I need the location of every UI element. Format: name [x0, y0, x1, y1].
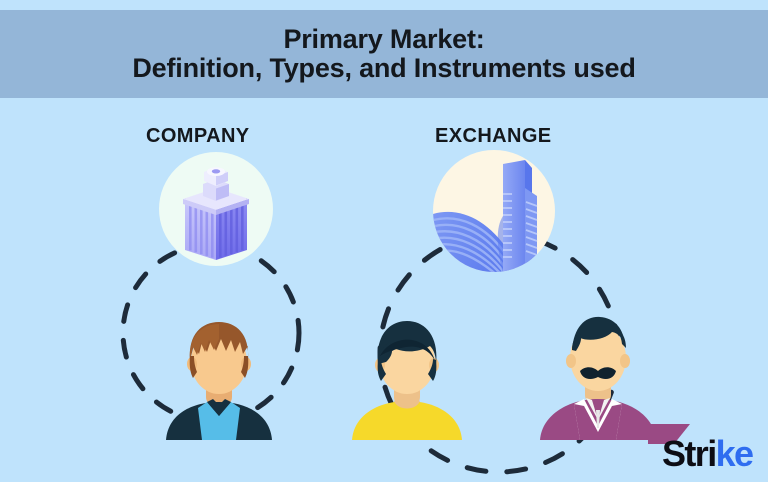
brand-name-part-2: k	[716, 433, 734, 474]
page-title-line-2: Definition, Types, and Instruments used	[132, 54, 635, 83]
title-banner: Primary Market: Definition, Types, and I…	[0, 10, 768, 98]
section-label-company: COMPANY	[146, 125, 250, 148]
company-building-icon	[159, 152, 273, 266]
stock-exchange-building-icon	[433, 150, 555, 272]
investor-avatar-1	[152, 312, 286, 440]
infographic-canvas: Primary Market: Definition, Types, and I…	[0, 0, 768, 482]
page-title-line-1: Primary Market:	[283, 25, 484, 54]
brand-name-part-1: Stri	[662, 433, 716, 474]
investor-avatar-2	[340, 312, 474, 440]
brand-wordmark: Strike	[662, 436, 752, 472]
investor-avatar-3	[528, 302, 668, 440]
section-label-exchange: EXCHANGE	[435, 125, 552, 148]
brand-name-part-3: e	[734, 433, 752, 474]
brand-logo[interactable]: Strike	[648, 424, 760, 476]
